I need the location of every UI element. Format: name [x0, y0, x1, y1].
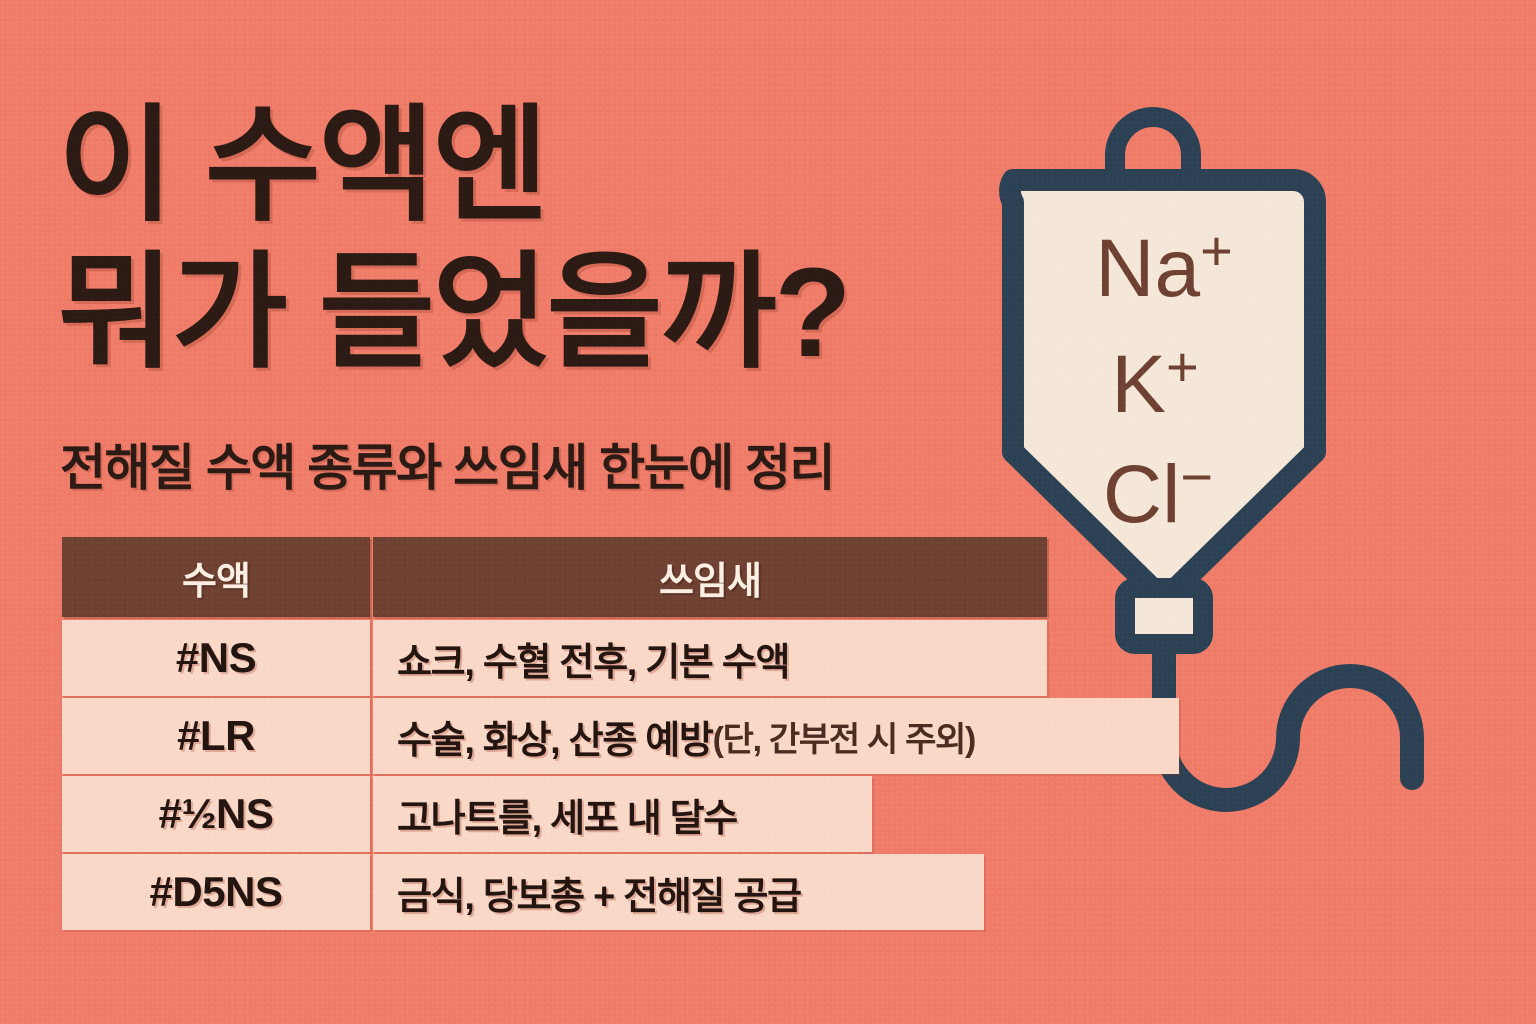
column-header-fluid-label: 수액 — [182, 550, 250, 605]
fluid-use-cell: 금식, 당보총 + 전해질 공급 — [373, 854, 984, 930]
fluid-name-cell: #D5NS — [62, 854, 370, 930]
fluid-use-note: (단, 간부전 시 주외) — [713, 712, 976, 761]
fluid-use-cell: 수술, 화상, 산종 예방 (단, 간부전 시 주외) — [373, 698, 1179, 774]
column-header-use: 쓰임새 — [373, 537, 1047, 617]
fluid-use-cell: 쇼크, 수혈 전후, 기본 수액 — [373, 620, 1047, 696]
subtitle: 전해질 수액 종류와 쓰임새 한눈에 정리 — [60, 428, 834, 500]
fluid-use-cell: 고나트를, 세포 내 달수 — [373, 776, 872, 852]
headline-line-1: 이 수액엔 — [58, 92, 1018, 239]
fluid-name-cell: #NS — [62, 620, 370, 696]
iv-tubing — [1164, 652, 1412, 800]
column-header-fluid: 수액 — [62, 537, 370, 617]
column-header-use-label: 쓰임새 — [659, 550, 761, 605]
fluid-name-cell: #LR — [62, 698, 370, 774]
fluid-use-label: 금식, 당보총 + 전해질 공급 — [397, 865, 801, 920]
fluid-use-label: 쇼크, 수혈 전후, 기본 수액 — [397, 631, 789, 686]
fluid-name-label: #½NS — [159, 790, 274, 838]
headline-block: 이 수액엔 뭐가 들었을까? — [58, 92, 1018, 387]
fluid-name-cell: #½NS — [62, 776, 370, 852]
fluid-name-label: #LR — [177, 712, 255, 760]
fluid-name-label: #NS — [176, 634, 256, 682]
fluid-name-label: #D5NS — [150, 868, 283, 916]
fluid-use-label: 수술, 화상, 산종 예방 — [397, 709, 713, 764]
fluid-use-label: 고나트를, 세포 내 달수 — [397, 787, 737, 842]
headline-line-2: 뭐가 들었을까? — [58, 239, 1018, 386]
iv-bag-port — [1125, 588, 1203, 644]
poster-canvas: Na+ K+ Cl− 이 수액엔 뭐가 들었을까? 전해질 수액 종류와 쓰임새… — [0, 0, 1536, 1024]
